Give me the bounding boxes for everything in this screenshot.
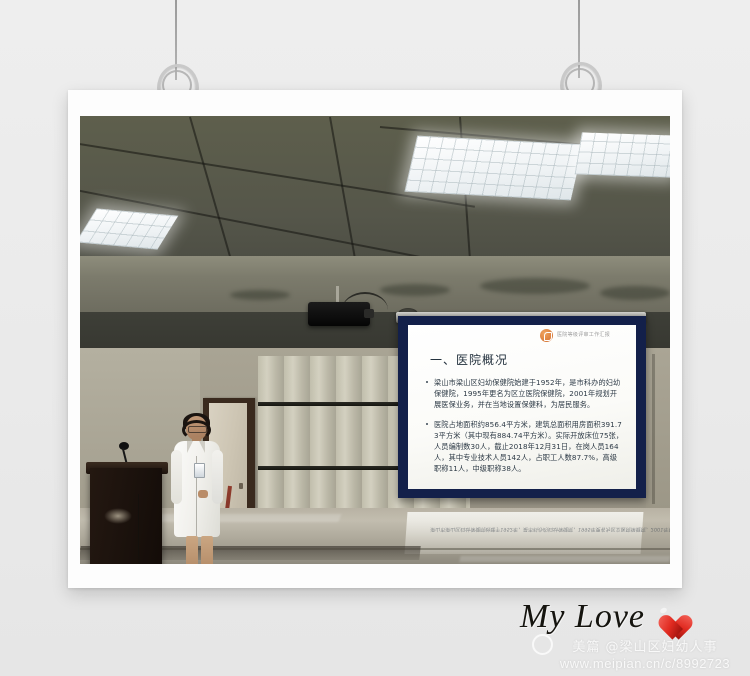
podium-emblem — [104, 508, 132, 524]
ceiling-light-panel-far-right — [575, 132, 670, 177]
light-grid — [404, 136, 583, 201]
microphone-cable — [138, 494, 161, 564]
slide-body: 梁山市梁山区妇幼保健院始建于1952年，是市科办的妇幼保健院，1995年更名为区… — [426, 377, 624, 483]
photograph: 医院等级评审工作汇报 一、医院概况 梁山市梁山区妇幼保健院始建于1952年，是市… — [80, 116, 670, 564]
right-wall — [646, 348, 670, 510]
slide-bullet: 梁山市梁山区妇幼保健院始建于1952年，是市科办的妇幼保健院，1995年更名为区… — [426, 377, 624, 410]
presenter-leg-left — [186, 536, 198, 564]
presenter-hand — [198, 490, 208, 498]
caption: My Love — [520, 598, 683, 636]
heart-icon — [653, 603, 683, 631]
caption-text: My Love — [520, 598, 645, 636]
projection-screen-frame: 医院等级评审工作汇报 一、医院概况 梁山市梁山区妇幼保健院始建于1952年，是市… — [398, 316, 646, 498]
photo-frame: 医院等级评审工作汇报 一、医院概况 梁山市梁山区妇幼保健院始建于1952年，是市… — [68, 90, 682, 588]
slide-header-text: 医院等级评审工作汇报 — [557, 331, 610, 338]
presenter-leg-right — [201, 536, 213, 564]
presenter-arm-left — [171, 450, 182, 504]
ceiling-projector — [308, 302, 370, 326]
ceiling-light-panel-right — [404, 136, 583, 201]
door-knob-icon — [239, 483, 243, 489]
coat-collar-left — [187, 441, 193, 453]
presenter-arm-right — [212, 450, 223, 504]
slide-logo-icon — [540, 329, 553, 342]
floor-reflection-text: 梁山市梁山区妇幼保健院始建于1952年，是市科办的妇幼保健院，1995年更名为区… — [430, 526, 670, 533]
id-badge — [194, 463, 205, 478]
coat-collar-right — [199, 441, 205, 453]
glasses-icon — [188, 426, 207, 433]
light-grid — [575, 132, 670, 177]
slide-bullet: 医院占地面积约856.4平方米，建筑总面积用房面积391.73平方米（其中现有8… — [426, 419, 624, 474]
wall-edge — [652, 354, 655, 504]
projection-screen-canvas: 医院等级评审工作汇报 一、医院概况 梁山市梁山区妇幼保健院始建于1952年，是市… — [408, 325, 636, 489]
slide-title: 一、医院概况 — [430, 351, 508, 368]
floor-seam — [80, 548, 670, 550]
heart-gloss — [659, 607, 667, 614]
